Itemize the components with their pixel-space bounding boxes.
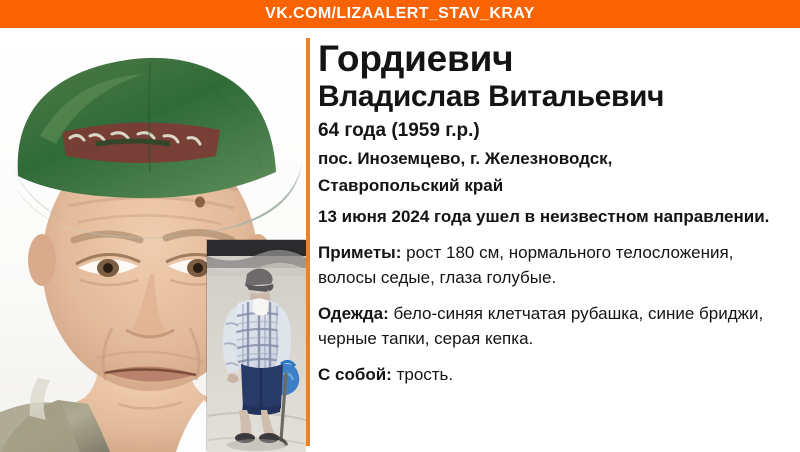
- vk-banner: VK.COM/LIZAALERT_STAV_KRAY: [0, 0, 800, 28]
- person-age: 64 года (1959 г.р.): [318, 118, 796, 144]
- details-column: Гордиевич Владислав Витальевич 64 года (…: [318, 28, 796, 452]
- field-belongings-value: трость.: [397, 365, 454, 384]
- missing-person-poster: VK.COM/LIZAALERT_STAV_KRAY: [0, 0, 800, 452]
- field-clothing: Одежда: бело-синяя клетчатая рубашка, си…: [318, 301, 796, 351]
- field-appearance: Приметы: рост 180 см, нормального телосл…: [318, 240, 796, 290]
- field-belongings: С собой: трость.: [318, 362, 796, 387]
- surveillance-photo: [207, 240, 306, 452]
- field-appearance-label: Приметы:: [318, 243, 401, 262]
- orange-vertical-divider: [306, 38, 310, 446]
- field-clothing-label: Одежда:: [318, 304, 389, 323]
- photo-column: [0, 28, 306, 452]
- person-surname: Гордиевич: [318, 38, 796, 80]
- person-place-line-2: Ставропольский край: [318, 173, 796, 198]
- vk-banner-text: VK.COM/LIZAALERT_STAV_KRAY: [265, 6, 535, 22]
- person-given-name: Владислав Витальевич: [318, 80, 796, 114]
- person-place-line-1: пос. Иноземцево, г. Железноводск,: [318, 146, 796, 171]
- field-belongings-label: С собой:: [318, 365, 392, 384]
- disappearance-statement: 13 июня 2024 года ушел в неизвестном нап…: [318, 204, 796, 229]
